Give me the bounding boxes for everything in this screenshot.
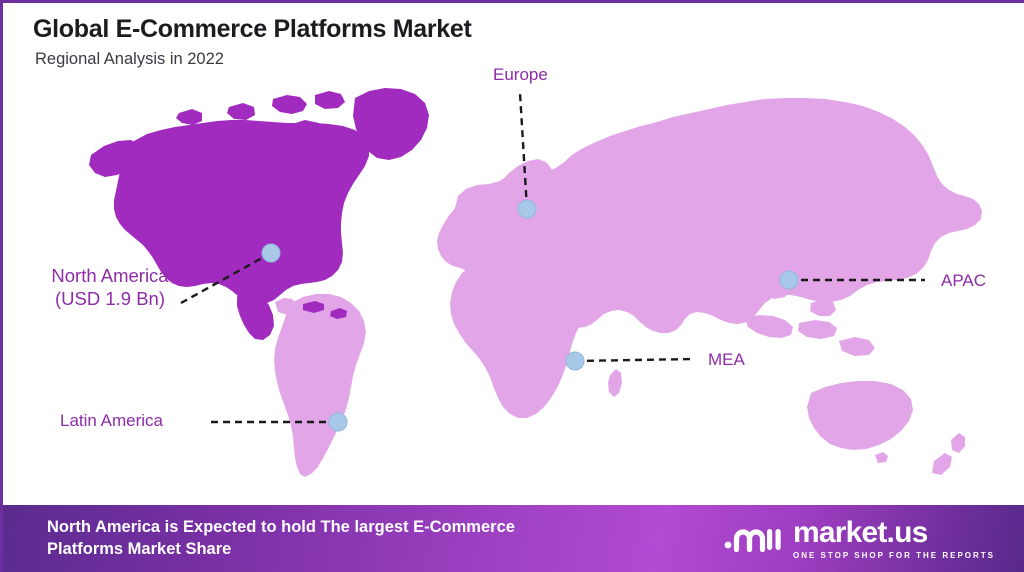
arctic-island-1 (272, 95, 307, 114)
marker-mea[interactable] (566, 352, 584, 370)
brand-name: market.us (793, 518, 928, 548)
marker-europe[interactable] (518, 200, 536, 218)
brand-logo[interactable]: market.us ONE STOP SHOP FOR THE REPORTS (723, 518, 1013, 560)
marker-latin-america[interactable] (329, 413, 347, 431)
page-title: Global E-Commerce Platforms Market (33, 15, 1024, 44)
page-subtitle: Regional Analysis in 2022 (35, 50, 1024, 70)
region-label-north-america-name: North America (51, 265, 168, 286)
region-label-north-america[interactable]: North America (USD 1.9 Bn) (36, 265, 184, 310)
region-label-latin-america-name: Latin America (60, 411, 163, 430)
header: Global E-Commerce Platforms Market Regio… (3, 3, 1024, 70)
footer-message-line1: North America is Expected to hold The la… (47, 517, 515, 539)
footer-banner: North America is Expected to hold The la… (3, 505, 1024, 572)
africa-landmass (450, 255, 600, 418)
arctic-island-4 (176, 109, 202, 125)
indonesia-east (798, 320, 837, 339)
region-label-mea-name: MEA (708, 350, 745, 369)
indonesia-west (745, 315, 793, 338)
madagascar (608, 369, 622, 397)
footer-message: North America is Expected to hold The la… (47, 517, 515, 561)
footer-message-line2: Platforms Market Share (47, 539, 515, 561)
region-label-north-america-value: (USD 1.9 Bn) (36, 288, 184, 311)
region-label-apac[interactable]: APAC (941, 271, 986, 292)
brand-logo-text: market.us ONE STOP SHOP FOR THE REPORTS (793, 518, 995, 560)
market-us-logo-mark-icon (723, 518, 783, 559)
australia-landmass (807, 381, 913, 450)
new-zealand-south (932, 453, 952, 475)
arctic-island-3 (227, 103, 255, 120)
arctic-island-2 (315, 91, 345, 109)
region-label-apac-name: APAC (941, 271, 986, 290)
central-america-light (275, 298, 297, 315)
leader-line-mea (575, 359, 695, 361)
tasmania (875, 452, 888, 463)
new-zealand-north (951, 433, 965, 453)
marker-north-america[interactable] (262, 244, 280, 262)
brand-tagline: ONE STOP SHOP FOR THE REPORTS (793, 552, 995, 560)
region-label-mea[interactable]: MEA (708, 350, 745, 371)
south-america-landmass (274, 294, 366, 477)
new-guinea (839, 337, 875, 356)
marker-apac[interactable] (780, 271, 798, 289)
infographic-canvas: Global E-Commerce Platforms Market Regio… (0, 0, 1024, 572)
region-label-latin-america[interactable]: Latin America (60, 411, 163, 432)
